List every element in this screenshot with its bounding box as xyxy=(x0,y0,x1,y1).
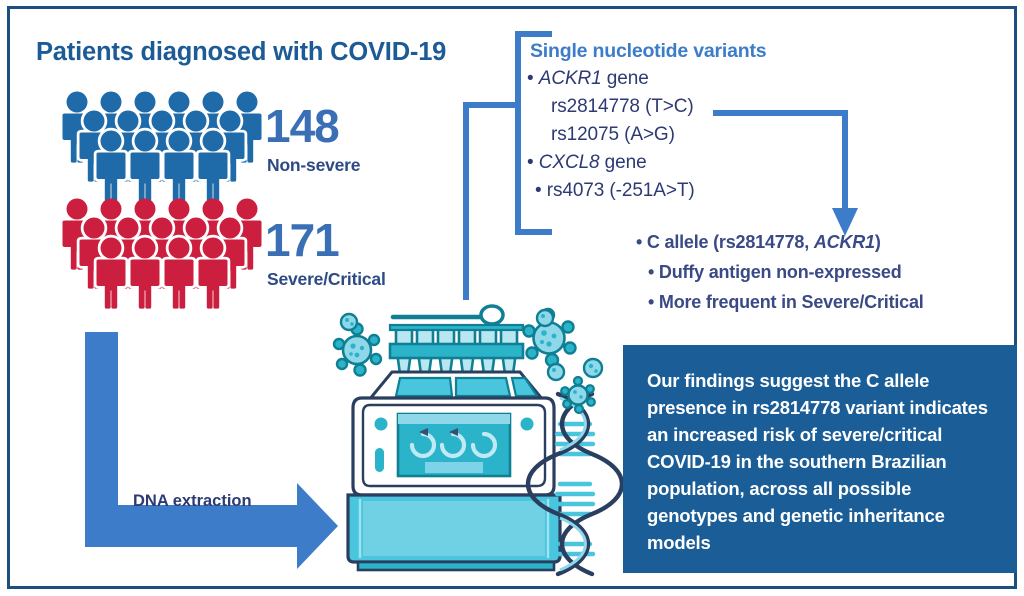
pcr-tube-strip-icon xyxy=(390,325,523,374)
pcr-thermocycler-icon xyxy=(348,372,560,570)
swab-icon xyxy=(393,306,503,324)
graphical-abstract: Patients diagnosed with COVID-19 xyxy=(0,0,1024,596)
conclusion-box: Our findings suggest the C allele presen… xyxy=(623,345,1017,573)
conclusion-text: Our findings suggest the C allele presen… xyxy=(647,367,991,556)
